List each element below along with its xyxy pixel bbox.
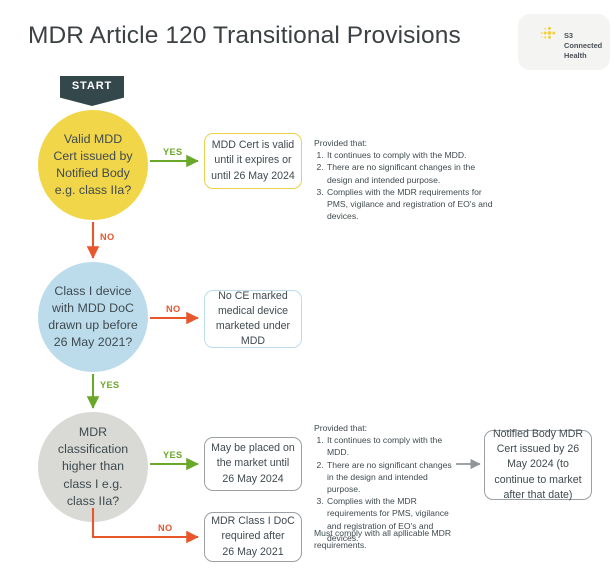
decision-node-mdr-classification[interactable]: MDR classification higher than class I e… xyxy=(38,412,148,522)
note-heading: Provided that: xyxy=(314,422,452,434)
start-banner: START xyxy=(60,76,124,106)
outcome-box-no-ce-marked-device[interactable]: No CE marked medical device marketed und… xyxy=(204,290,302,348)
decision-node-class-i-device-doc[interactable]: Class I device with MDD DoC drawn up bef… xyxy=(38,262,148,372)
edge-node3-yes: YES xyxy=(150,450,198,464)
decision-node-valid-mdd-cert[interactable]: Valid MDD Cert issued by Notified Body e… xyxy=(38,110,148,220)
outcome-box-may-be-placed-market[interactable]: May be placed on the market until 26 May… xyxy=(204,437,302,491)
edge-label-no: NO xyxy=(158,523,173,533)
note-provided-that-row3: Provided that: It continues to comply wi… xyxy=(314,422,452,544)
dot-cross-icon xyxy=(540,26,560,46)
note-heading: Provided that: xyxy=(314,137,494,149)
note-list-item: It continues to comply with the MDD. xyxy=(326,149,494,161)
edge-label-no: NO xyxy=(166,304,181,314)
outcome-box-notified-body-mdr-cert[interactable]: Notified Body MDR Cert issued by 26 May … xyxy=(484,430,592,500)
edge-label-yes: YES xyxy=(163,147,183,157)
note-must-comply: Must comply with all apllicable MDR requ… xyxy=(314,527,462,551)
note-list-item: There are no significant changes in the … xyxy=(326,459,452,496)
edge-label-no: NO xyxy=(100,232,115,242)
edge-label-yes: YES xyxy=(163,450,183,460)
note-list-item: There are no significant changes in the … xyxy=(326,161,494,185)
outcome-box-mdr-class-i-doc[interactable]: MDR Class I DoC required after 26 May 20… xyxy=(204,512,302,562)
note-list-item: Complies with the MDR requirements for P… xyxy=(326,186,494,223)
page-title: MDR Article 120 Transitional Provisions xyxy=(28,22,461,50)
edge-node1-no: NO xyxy=(93,222,115,258)
note-list-item: It continues to comply with the MDD. xyxy=(326,434,452,458)
note-list: It continues to comply with the MDD. The… xyxy=(314,149,494,222)
edge-node2-no: NO xyxy=(150,304,198,318)
brand-name: S3 Connected Health xyxy=(564,31,602,60)
edge-node1-yes: YES xyxy=(150,147,198,161)
flowchart-canvas: MDR Article 120 Transitional Provisions … xyxy=(0,0,616,582)
note-provided-that-row1: Provided that: It continues to comply wi… xyxy=(314,137,494,222)
outcome-box-mdd-cert-valid[interactable]: MDD Cert is valid until it expires or un… xyxy=(204,133,302,189)
edge-label-yes: YES xyxy=(100,380,120,390)
edge-node2-yes: YES xyxy=(93,374,120,408)
